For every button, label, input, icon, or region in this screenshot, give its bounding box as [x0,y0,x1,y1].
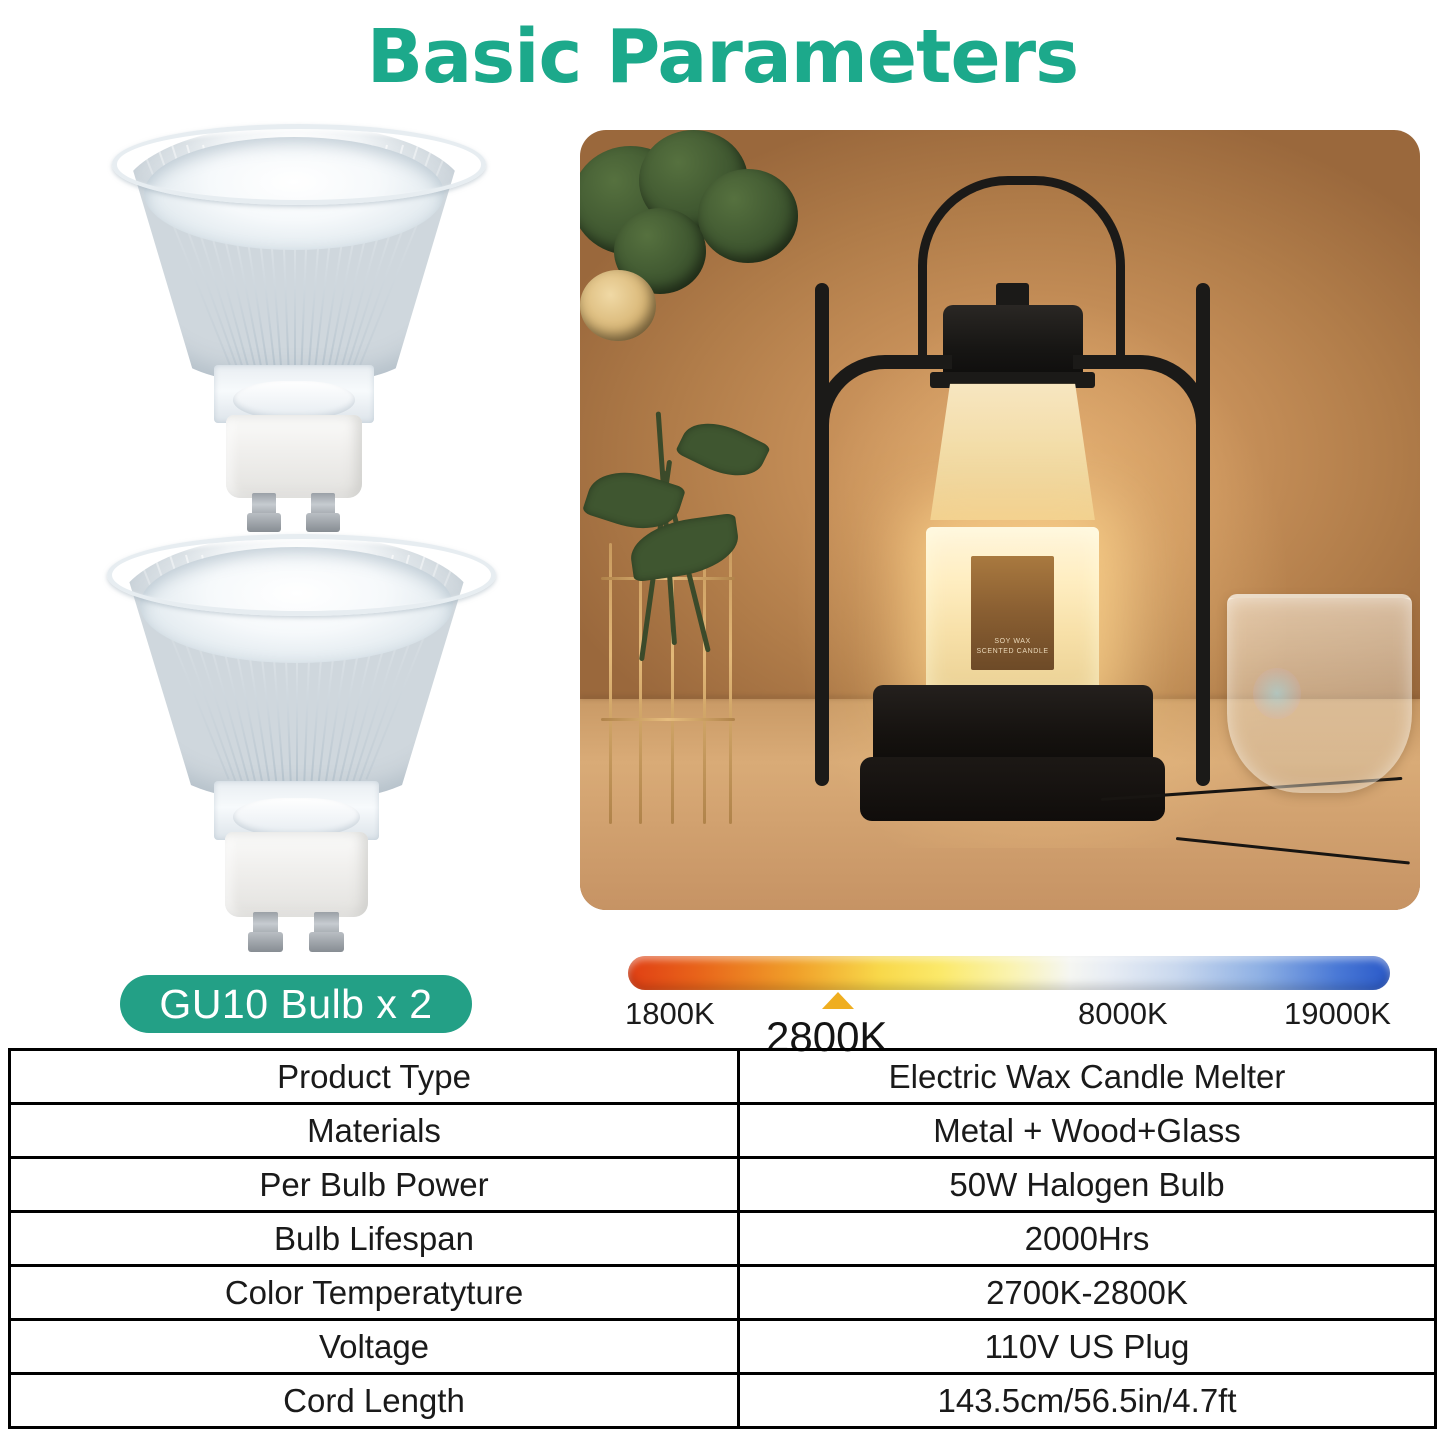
bulb-glass-rim [112,124,487,205]
bulb-ceramic-base [226,415,363,498]
kelvin-mid-label: 8000K [1078,996,1168,1032]
vase-wire [609,543,612,824]
gu10-bulb-image-1 [104,124,484,539]
candle-label-line-2: SCENTED CANDLE [976,647,1048,658]
vase-wire [639,543,642,824]
spec-key: Cord Length [10,1374,739,1428]
lamp-frame-left [815,283,829,785]
bulb-glass-rim [107,534,496,616]
color-temperature-scale: 1800K 8000K 19000K 2800K [0,930,1445,1045]
candle-jar-label: SOY WAX SCENTED CANDLE [971,556,1054,670]
lamp-shade [930,384,1095,520]
kelvin-max-label: 19000K [1284,996,1391,1032]
bulb-graphic [99,534,494,959]
specification-table: Product Type Electric Wax Candle Melter … [8,1048,1437,1429]
bulb-halogen-capsule [233,798,359,836]
bulb-pin-left [252,493,276,530]
table-row: Color Temperatyture 2700K-2800K [10,1266,1436,1320]
table-row: Materials Metal + Wood+Glass [10,1104,1436,1158]
gu10-bulb-image-2 [99,534,494,959]
specification-table-body: Product Type Electric Wax Candle Melter … [10,1050,1436,1428]
lamp-frame-right [1196,283,1210,785]
flower-bloom-cream [580,270,656,340]
candle-label-line-1: SOY WAX [994,637,1031,648]
table-row: Bulb Lifespan 2000Hrs [10,1212,1436,1266]
lamp-base-foot [860,757,1165,822]
bulb-graphic [104,124,484,539]
vase-wire [703,543,706,824]
kelvin-gradient-bar [628,956,1390,990]
spec-key: Bulb Lifespan [10,1212,739,1266]
spec-value: Metal + Wood+Glass [739,1104,1436,1158]
spec-value: 143.5cm/56.5in/4.7ft [739,1374,1436,1428]
bulb-pin-right [311,493,335,530]
kelvin-marker-triangle-icon [822,992,854,1009]
spec-key: Color Temperatyture [10,1266,739,1320]
spec-value: 50W Halogen Bulb [739,1158,1436,1212]
spec-value: 110V US Plug [739,1320,1436,1374]
table-row: Per Bulb Power 50W Halogen Bulb [10,1158,1436,1212]
kelvin-min-label: 1800K [625,996,715,1032]
page-title: Basic Parameters [0,14,1445,100]
photo-candle-warmer-lamp: SOY WAX SCENTED CANDLE [807,161,1219,879]
table-row: Voltage 110V US Plug [10,1320,1436,1374]
spec-value: Electric Wax Candle Melter [739,1050,1436,1104]
lamp-cap [943,305,1083,377]
spec-key: Product Type [10,1050,739,1104]
spec-key: Voltage [10,1320,739,1374]
product-spec-page: Basic Parameters [0,0,1445,1445]
vase-hoop [601,718,735,721]
spec-value: 2700K-2800K [739,1266,1436,1320]
spec-key: Materials [10,1104,739,1158]
product-photo: SOY WAX SCENTED CANDLE [580,130,1420,910]
photo-glass-cup [1227,594,1412,793]
candle-jar: SOY WAX SCENTED CANDLE [926,527,1099,699]
spec-value: 2000Hrs [739,1212,1436,1266]
table-row: Product Type Electric Wax Candle Melter [10,1050,1436,1104]
flower-bloom [698,169,799,263]
bulb-halogen-capsule [233,381,355,418]
flower-leaf [675,410,771,489]
spec-key: Per Bulb Power [10,1158,739,1212]
bulb-ceramic-base [225,832,367,917]
table-row: Cord Length 143.5cm/56.5in/4.7ft [10,1374,1436,1428]
vase-wire [729,543,732,824]
